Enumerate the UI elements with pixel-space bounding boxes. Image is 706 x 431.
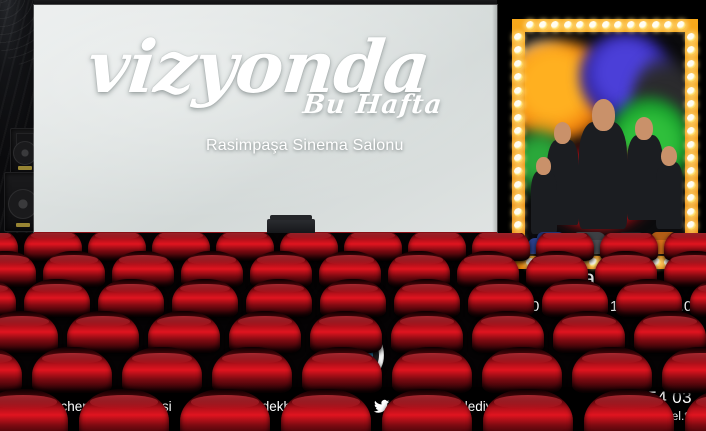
marquee-bulb (514, 181, 523, 190)
marquee-bulb (526, 21, 535, 30)
cinema-seat (122, 347, 202, 393)
cinema-seat (572, 347, 652, 393)
marquee-bulb (687, 141, 696, 150)
speaker-badge (18, 166, 32, 170)
marquee-bulb (687, 167, 696, 176)
cinema-seat (281, 389, 371, 431)
marquee-bulb (687, 181, 696, 190)
marquee-bulb (539, 21, 548, 30)
marquee-bulb (687, 87, 696, 96)
cinema-seat (32, 347, 112, 393)
seat-back (382, 389, 472, 431)
marquee-bulb (514, 208, 523, 217)
screen-right-edge (492, 5, 497, 232)
marquee-bulb (564, 21, 573, 30)
seat-back (122, 347, 202, 393)
marquee-bulb (614, 21, 623, 30)
marquee-bulb (687, 194, 696, 203)
cinema-seat (302, 347, 382, 393)
seat-back (302, 347, 382, 393)
marquee-bulb (514, 100, 523, 109)
cinema-seat (483, 389, 573, 431)
marquee-bulb (514, 33, 523, 42)
cinema-seat (392, 347, 472, 393)
movie-poster-image (525, 32, 685, 256)
cinema-seat (79, 389, 169, 431)
marquee-bulb (514, 60, 523, 69)
marquee-bulb (687, 127, 696, 136)
marquee-bulb (677, 21, 686, 30)
marquee-bulb (514, 87, 523, 96)
marquee-bulb (602, 21, 611, 30)
cast-figure-center-head (592, 99, 614, 130)
marquee-bulb (652, 21, 661, 30)
cinema-seat (685, 389, 706, 431)
title-subline: Bu Hafta (302, 92, 444, 118)
marquee-bulb (687, 100, 696, 109)
marquee-bulb (639, 21, 648, 30)
marquee-bulb (514, 73, 523, 82)
cast-figure-far-right-head (661, 146, 677, 166)
cinema-seat (180, 389, 270, 431)
speaker-badge (16, 223, 30, 227)
cast-figure-right-head (635, 117, 653, 139)
marquee-bulb (514, 194, 523, 203)
cinema-seat (382, 389, 472, 431)
seat-back (32, 347, 112, 393)
cinema-seat (0, 389, 68, 431)
marquee-bulb (514, 46, 523, 55)
cinema-seat (662, 347, 706, 393)
cinema-seat (482, 347, 562, 393)
cast-figure-far-left-head (536, 157, 550, 175)
marquee-bulb (687, 46, 696, 55)
cinema-seat (0, 347, 22, 393)
marquee-bulb (514, 154, 523, 163)
marquee-bulb (687, 154, 696, 163)
seat-back (79, 389, 169, 431)
marquee-bulb (551, 21, 560, 30)
marquee-bulb (514, 141, 523, 150)
seat-back (0, 347, 22, 393)
marquee-bulb (514, 221, 523, 230)
marquee-bulb (687, 73, 696, 82)
seat-back (0, 389, 68, 431)
seat-row (0, 347, 706, 393)
seat-rows (0, 233, 706, 431)
marquee-bulb (687, 208, 696, 217)
movie-poster-frame[interactable] (512, 19, 698, 269)
seat-back (180, 389, 270, 431)
venue-name: Rasimpaşa Sinema Salonu (206, 137, 404, 155)
marquee-bulb (627, 21, 636, 30)
marquee-bulb (687, 60, 696, 69)
marquee-bulb (514, 114, 523, 123)
seat-back (572, 347, 652, 393)
seat-back (662, 347, 706, 393)
seat-back (212, 347, 292, 393)
seat-back (392, 347, 472, 393)
side-curtain (0, 0, 34, 233)
marquee-bulb (514, 167, 523, 176)
marquee-bulb (664, 21, 673, 30)
seat-back (483, 389, 573, 431)
marquee-bulb (589, 21, 598, 30)
seat-row (0, 389, 706, 431)
marquee-bulb (687, 114, 696, 123)
cinema-promo-poster: vizyonda Bu Hafta Rasimpaşa Sinema Salon… (0, 0, 706, 431)
seat-back (482, 347, 562, 393)
seat-back (584, 389, 674, 431)
seat-back (281, 389, 371, 431)
cinema-seat (584, 389, 674, 431)
seat-back (685, 389, 706, 431)
marquee-bulb (687, 221, 696, 230)
marquee-bulb (514, 127, 523, 136)
poster-artwork (525, 32, 685, 256)
cinema-seat (212, 347, 292, 393)
marquee-bulb (687, 33, 696, 42)
marquee-bulb (576, 21, 585, 30)
cast-figure-left-head (554, 122, 572, 144)
